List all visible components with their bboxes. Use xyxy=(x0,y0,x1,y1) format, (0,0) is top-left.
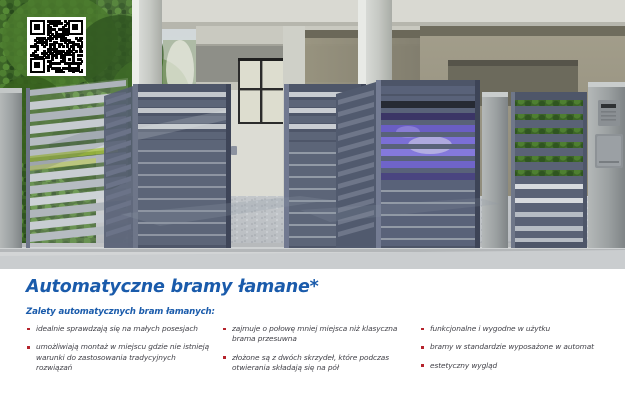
list-item-label: estetyczny wygląd xyxy=(430,361,610,371)
bullet-square-icon xyxy=(223,328,226,331)
gate-leaf-3 xyxy=(376,80,480,248)
page-subtitle: Zalety automatycznych bram łamanych: xyxy=(26,307,215,317)
list-item: estetyczny wygląd xyxy=(420,361,610,371)
benefits-list-3: funkcjonalne i wygodne w użytku bramy w … xyxy=(420,324,610,371)
benefits-list-2: zajmuje o połowę mniej miejsca niż klasy… xyxy=(222,324,412,374)
list-item-label: umożliwiają montaż w miejscu gdzie nie i… xyxy=(36,342,214,373)
list-item: zajmuje o połowę mniej miejsca niż klasy… xyxy=(222,324,412,345)
benefits-column-2: zajmuje o połowę mniej miejsca niż klasy… xyxy=(222,324,412,374)
photo-scene xyxy=(0,0,625,269)
bullet-square-icon xyxy=(223,356,226,359)
bullet-square-icon xyxy=(421,364,424,367)
gate-leaf-1 xyxy=(133,84,231,248)
benefits-column-3: funkcjonalne i wygodne w użytku bramy w … xyxy=(420,324,610,371)
benefits-list-1: idealnie sprawdzają się na małych posesj… xyxy=(26,324,214,374)
bullet-square-icon xyxy=(27,346,30,349)
bullet-square-icon xyxy=(421,346,424,349)
bullet-square-icon xyxy=(421,328,424,331)
gate-leaf-folded-right xyxy=(334,80,378,248)
qr-code-canvas xyxy=(30,20,83,73)
list-item: funkcjonalne i wygodne w użytku xyxy=(420,324,610,334)
list-item: złożone są z dwóch skrzydeł, które podcz… xyxy=(222,353,412,374)
list-item-label: złożone są z dwóch skrzydeł, które podcz… xyxy=(232,353,412,374)
fence-pillar-middle xyxy=(482,92,508,248)
product-photo xyxy=(0,0,625,269)
list-item-label: zajmuje o połowę mniej miejsca niż klasy… xyxy=(232,324,412,345)
qr-code[interactable] xyxy=(27,17,86,76)
intercom xyxy=(598,100,620,126)
bullet-square-icon xyxy=(27,328,30,331)
gate-leaf-folded-left xyxy=(104,86,133,248)
list-item: bramy w standardzie wyposażone w automat xyxy=(420,342,610,352)
gate-handle xyxy=(231,146,237,155)
fence-pillar-right xyxy=(588,82,625,248)
benefits-column-1: idealnie sprawdzają się na małych posesj… xyxy=(26,324,214,374)
list-item-label: funkcjonalne i wygodne w użytku xyxy=(430,324,610,334)
list-item-label: bramy w standardzie wyposażone w automat xyxy=(430,342,610,352)
page-title: Automatyczne bramy łamane* xyxy=(26,277,319,297)
list-item-label: idealnie sprawdzają się na małych posesj… xyxy=(36,324,214,334)
brochure-page: Automatyczne bramy łamane* Zalety automa… xyxy=(0,0,625,400)
benefits-columns: idealnie sprawdzają się na małych posesj… xyxy=(0,324,625,400)
fence-panel-right xyxy=(511,92,587,248)
list-item: umożliwiają montaż w miejscu gdzie nie i… xyxy=(26,342,214,373)
list-item: idealnie sprawdzają się na małych posesj… xyxy=(26,324,214,334)
text-content-area: Automatyczne bramy łamane* Zalety automa… xyxy=(0,269,625,400)
